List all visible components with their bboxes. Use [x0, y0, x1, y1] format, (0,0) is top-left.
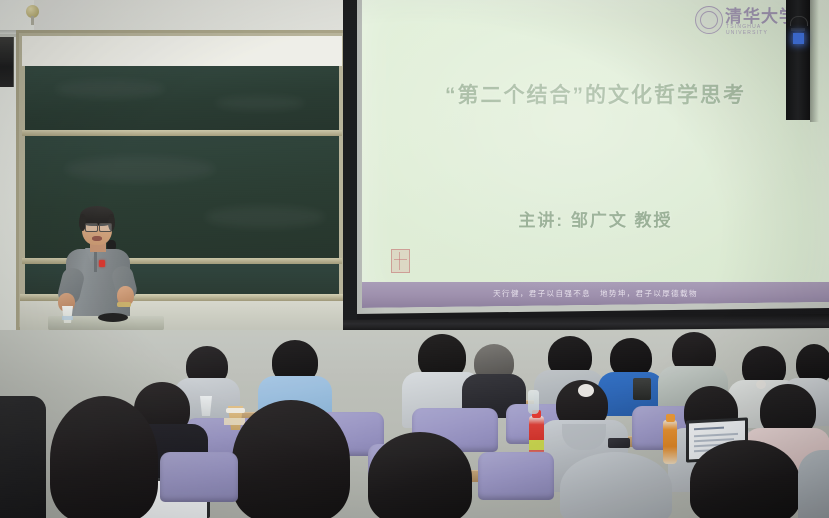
- ceiling-fixture-stem: [31, 16, 34, 25]
- foreground-figure-far-left: [0, 396, 46, 518]
- hair-clip-icon: [578, 384, 594, 397]
- paper-cup-band: [62, 316, 73, 320]
- chair-back-front: [160, 452, 238, 502]
- water-bottle: [528, 390, 539, 414]
- microphone-base: [98, 313, 128, 322]
- wall-speaker-box: [0, 37, 14, 87]
- tsinghua-emblem-icon: [695, 6, 723, 34]
- chalkboard-upper-surface: [25, 66, 339, 130]
- presenter-wristwatch: [117, 302, 131, 307]
- orange-juice-bottle: [663, 420, 677, 464]
- glasses-right-lens-icon: [99, 223, 112, 232]
- foreground-head-left: [50, 396, 158, 518]
- bottle-label-accent: [529, 440, 544, 450]
- coffee-cup-sleeve: [224, 418, 245, 425]
- chalkboard-upper-panel: [22, 36, 342, 66]
- hair-clip-icon: [756, 380, 766, 389]
- foreground-shoulders-hoodie: [560, 452, 672, 518]
- thermos-bottle: [633, 378, 651, 400]
- coffee-cup-lid: [226, 408, 245, 413]
- glasses-bridge: [96, 225, 99, 226]
- slide-title: “第二个结合”的文化哲学思考: [362, 79, 829, 109]
- post-shadow: [810, 0, 819, 122]
- red-seal-icon: [391, 249, 410, 273]
- lecture-hall-photo: 清华大学 TSINGHUA UNIVERSITY “第二个结合”的文化哲学思考 …: [0, 0, 829, 518]
- post-cable-loop: [790, 16, 808, 26]
- chair-back-front: [478, 452, 554, 500]
- screen-left-edge: [343, 0, 357, 326]
- projected-slide: 清华大学 TSINGHUA UNIVERSITY “第二个结合”的文化哲学思考 …: [362, 0, 829, 308]
- smartphone[interactable]: [608, 438, 630, 448]
- status-indicator-light: [793, 33, 804, 44]
- foreground-head-center-left: [232, 400, 350, 518]
- presenter-mouth: [92, 236, 102, 241]
- presenter-shirt-placket: [94, 250, 97, 272]
- foreground-shoulder-far-right: [798, 450, 829, 518]
- presenter-badge: [99, 260, 105, 267]
- slide-motto-text: 天行健，君子以自强不息 地势坤，君子以厚德载物: [362, 288, 829, 299]
- foreground-head-center: [368, 432, 472, 518]
- projection-screen: 清华大学 TSINGHUA UNIVERSITY “第二个结合”的文化哲学思考 …: [343, 0, 829, 338]
- bottle-cap: [666, 414, 675, 422]
- chalkboard-main-surface: [25, 136, 339, 258]
- foreground-head-right: [690, 440, 800, 518]
- post-label-strip: [791, 28, 805, 31]
- slide-subtitle: 主讲: 邹广文 教授: [362, 206, 829, 231]
